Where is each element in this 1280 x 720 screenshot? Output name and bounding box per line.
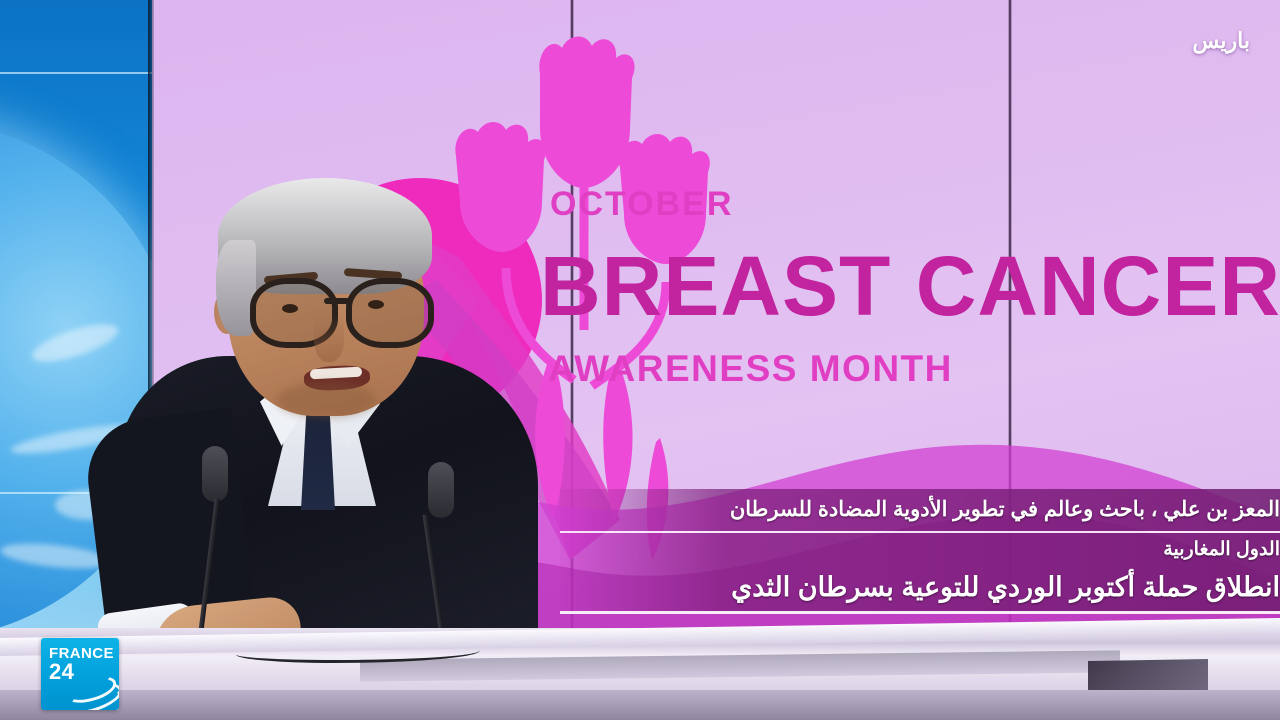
broadcast-frame: OCTOBER BREAST CANCER AWARENESS MONTH: [0, 0, 1280, 720]
glasses-bridge: [324, 298, 350, 304]
desk-front-face: [0, 690, 1280, 720]
wall-line-awareness-month: AWARENESS MONTH: [548, 348, 953, 390]
guest-name-title: المعز بن علي ، باحث وعالم في تطوير الأدو…: [560, 489, 1280, 531]
wall-line-october: OCTOBER: [550, 185, 733, 224]
microphone-capsule: [202, 446, 228, 502]
logo-text-24: 24: [49, 661, 74, 683]
banner-underline: [560, 611, 1280, 614]
microphone-capsule: [428, 462, 454, 518]
guest-speaker: [118, 178, 548, 648]
france24-logo: FRANCE 24: [41, 638, 119, 710]
region-label: الدول المغاربية: [560, 533, 1280, 566]
wall-horizon-line: [0, 72, 152, 74]
location-label: باريس: [1192, 28, 1250, 54]
nose: [314, 314, 344, 362]
wall-line-breast-cancer: BREAST CANCER: [540, 238, 1280, 335]
headline-text: انطلاق حملة أكتوبر الوردي للتوعية بسرطان…: [560, 566, 1280, 611]
chin-shadow: [276, 382, 376, 418]
glasses-lens: [346, 278, 434, 348]
lower-third-banner: المعز بن علي ، باحث وعالم في تطوير الأدو…: [560, 489, 1280, 613]
